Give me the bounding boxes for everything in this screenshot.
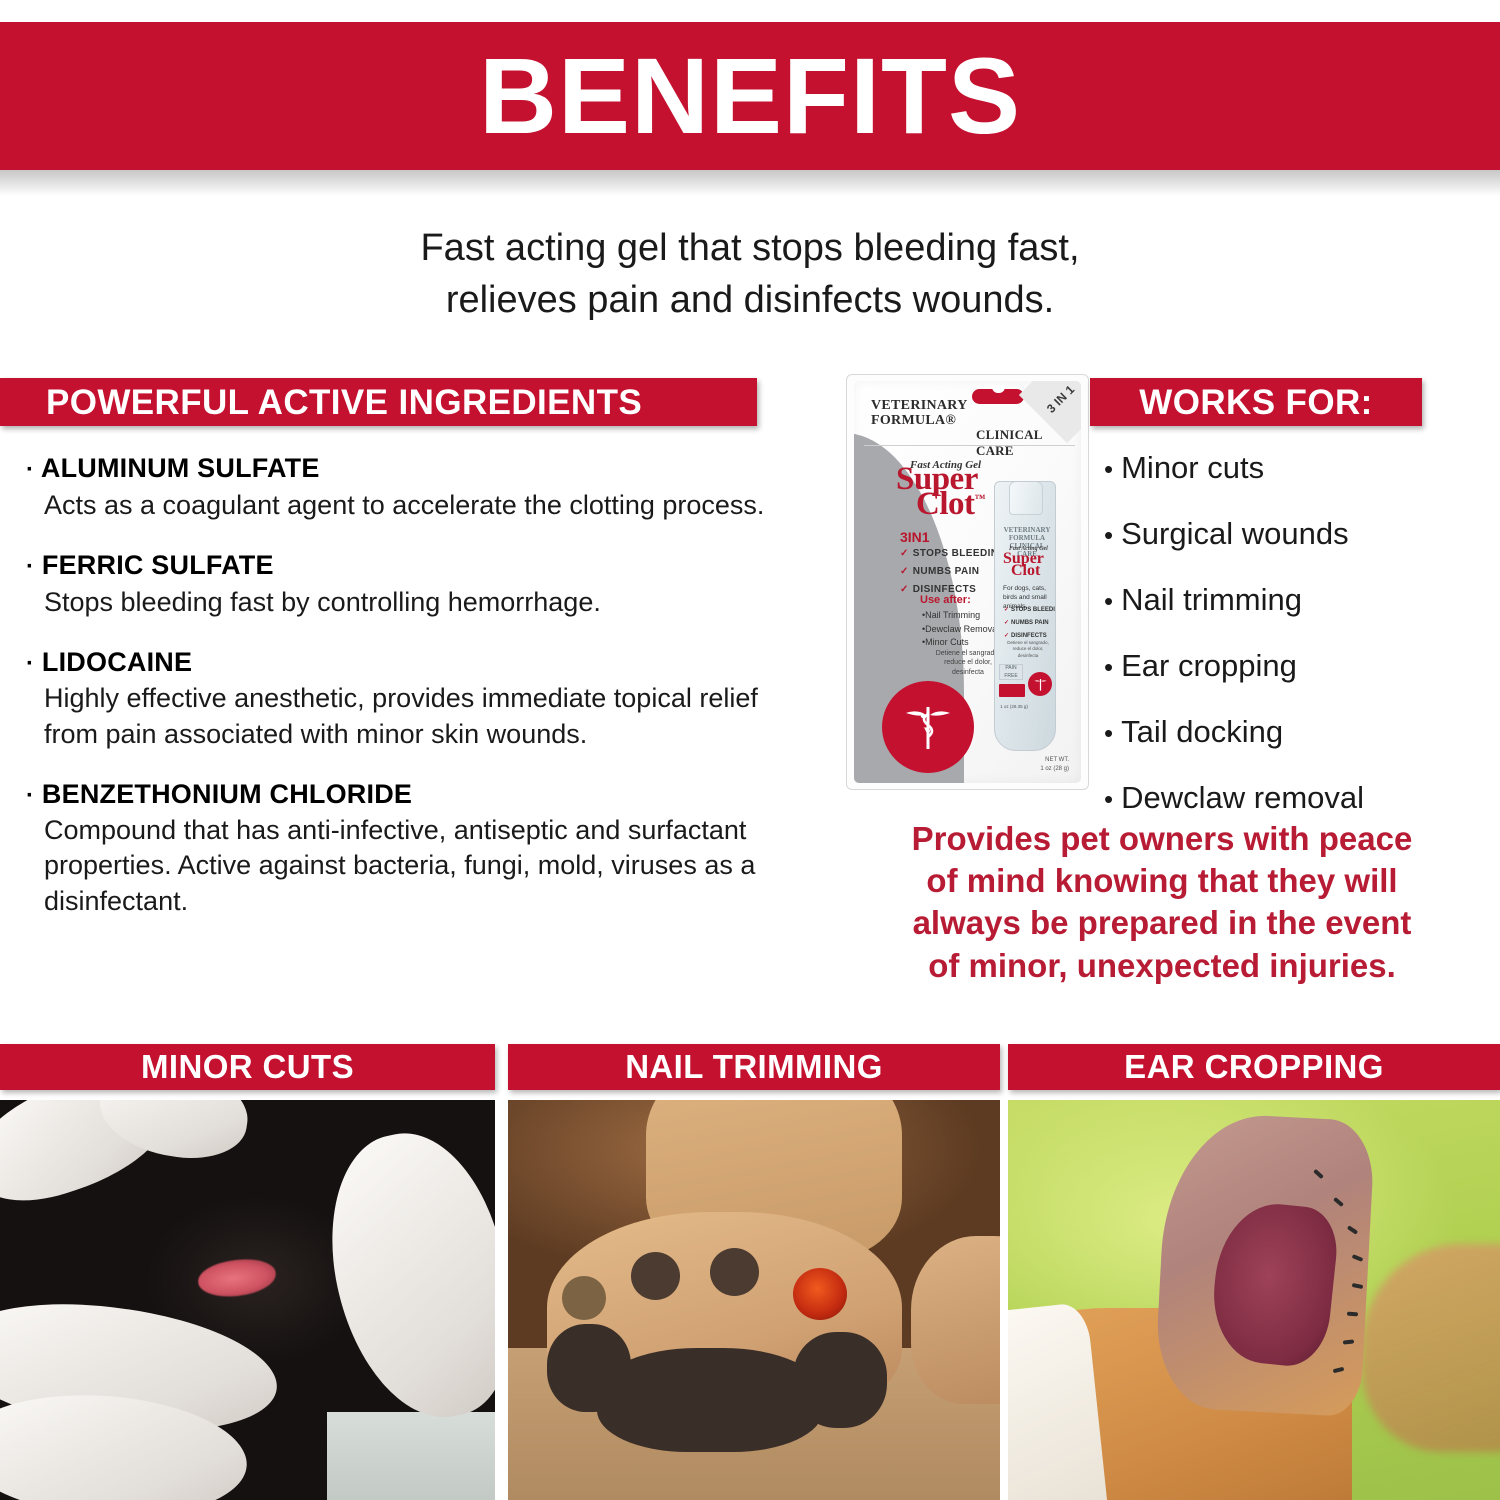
veterinary-caduceus-logo: V <box>882 681 974 773</box>
ingredient-description: Compound that has anti-infective, antise… <box>26 813 766 918</box>
ingredient-name-text: LIDOCAINE <box>42 647 192 677</box>
panel-photo-ear-cropping <box>1008 1100 1500 1500</box>
check-icon: ✓ <box>900 548 909 559</box>
list-bullet-icon: • <box>1104 520 1113 550</box>
dog-nail <box>710 1248 759 1296</box>
page-title: BENEFITS <box>479 42 1021 150</box>
package-brand: VETERINARY FORMULA® <box>871 398 968 428</box>
works-for-item-label: Ear cropping <box>1121 648 1297 683</box>
panel-photo-nail-trimming <box>508 1100 1000 1500</box>
tube-claim: ✓DISINFECTS <box>1004 632 1056 639</box>
package-sub-brand: CLINICAL CARE <box>976 427 1081 459</box>
works-for-item: •Tail docking <box>1104 716 1494 747</box>
list-bullet-icon: · <box>26 650 34 677</box>
package-product-name-line-2: Clot™ <box>916 490 985 518</box>
dog-nail <box>562 1276 606 1320</box>
list-bullet-icon: · <box>26 782 34 809</box>
benefits-infographic: BENEFITS Fast acting gel that stops blee… <box>0 0 1500 1500</box>
promo-line-3: always be prepared in the event <box>832 902 1492 944</box>
package-count-badge: 3IN1 <box>900 529 930 545</box>
package-use-after-label: Use after: <box>920 594 971 606</box>
works-for-list: •Minor cuts •Surgical wounds •Nail trimm… <box>1104 452 1494 848</box>
works-for-item-label: Minor cuts <box>1121 450 1264 485</box>
ingredient-name-text: ALUMINUM SULFATE <box>41 453 320 483</box>
tube-pain-free-badge: PAIN FREE <box>999 664 1023 680</box>
tube-net-weight: 1 oz (28.35 g) <box>999 704 1029 710</box>
ingredients-list: · ALUMINUM SULFATE Acts as a coagulant a… <box>26 452 766 945</box>
ingredient-item: · LIDOCAINE Highly effective anesthetic,… <box>26 646 766 752</box>
ingredient-item: · ALUMINUM SULFATE Acts as a coagulant a… <box>26 452 766 523</box>
works-for-heading: WORKS FOR: <box>1139 385 1372 420</box>
svg-text:V: V <box>924 724 933 738</box>
promo-statement: Provides pet owners with peace of mind k… <box>832 818 1492 987</box>
use-case-panel-minor-cuts: MINOR CUTS <box>0 1044 495 1500</box>
promo-line-1: Provides pet owners with peace <box>832 818 1492 860</box>
promo-line-2: of mind knowing that they will <box>832 860 1492 902</box>
works-for-item-label: Nail trimming <box>1121 582 1302 617</box>
tube-brand-line-2: FORMULA <box>1001 534 1053 542</box>
ingredients-heading: POWERFUL ACTIVE INGREDIENTS <box>46 385 642 420</box>
list-bullet-icon: • <box>1104 454 1113 484</box>
check-icon: ✓ <box>1004 620 1009 626</box>
tagline-line-2: relieves pain and disinfects wounds. <box>0 274 1500 326</box>
paw-pad <box>793 1332 886 1428</box>
photo-dog-paw-bleeding-nail <box>508 1100 1000 1500</box>
list-bullet-icon: • <box>1104 718 1113 748</box>
list-bullet-icon: · <box>26 456 34 483</box>
ingredients-header-bar: POWERFUL ACTIVE INGREDIENTS <box>0 378 757 426</box>
tagline-line-1: Fast acting gel that stops bleeding fast… <box>0 222 1500 274</box>
package-divider <box>864 445 1075 446</box>
tube-brand-line-1: VETERINARY <box>1001 526 1053 534</box>
use-case-panel-nail-trimming: NAIL TRIMMING <box>508 1044 1000 1500</box>
package-use-item: •Nail Trimming <box>922 609 999 623</box>
ingredient-description: Highly effective anesthetic, provides im… <box>26 681 766 751</box>
tube-name-line-2: Clot <box>1011 564 1040 578</box>
panel-caption-bar: MINOR CUTS <box>0 1044 495 1090</box>
ingredient-name: · ALUMINUM SULFATE <box>26 452 766 486</box>
list-bullet-icon: • <box>1104 652 1113 682</box>
ingredient-item: · BENZETHONIUM CHLORIDE Compound that ha… <box>26 778 766 919</box>
net-weight-value: 1 oz (28 g) <box>1040 765 1069 773</box>
package-claim: ✓NUMBS PAIN <box>900 566 1007 577</box>
works-for-item-label: Dewclaw removal <box>1121 780 1364 815</box>
exam-table-region <box>327 1412 495 1500</box>
promo-line-4: of minor, unexpected injuries. <box>832 945 1492 987</box>
product-tube: VETERINARY FORMULA CLINICAL CARE Fast Ac… <box>994 481 1056 751</box>
package-use-after-list: •Nail Trimming •Dewclaw Removal •Minor C… <box>922 609 999 650</box>
suture-stitch <box>1347 1312 1358 1317</box>
use-case-panels: MINOR CUTS NAIL TRIMMING <box>0 1044 1500 1500</box>
tube-caduceus-logo <box>1028 672 1052 696</box>
ingredient-name-text: FERRIC SULFATE <box>42 550 274 580</box>
use-case-panel-ear-cropping: EAR CROPPING <box>1008 1044 1500 1500</box>
works-for-item-label: Tail docking <box>1121 714 1283 749</box>
dog-nail <box>631 1252 680 1300</box>
paw-pad-main <box>597 1348 823 1452</box>
panel-caption: NAIL TRIMMING <box>625 1048 883 1086</box>
works-for-item: •Ear cropping <box>1104 650 1494 681</box>
tube-claim: ✓NUMBS PAIN <box>1004 619 1056 626</box>
photo-dog-cropped-ear <box>1008 1100 1500 1500</box>
works-for-item: •Nail trimming <box>1104 584 1494 615</box>
tube-cap <box>1009 481 1043 515</box>
tube-spanish-text: Detiene el sangrado, reduce el dolor, de… <box>1007 640 1049 659</box>
ingredient-description: Stops bleeding fast by controlling hemor… <box>26 585 766 620</box>
list-bullet-icon: • <box>1104 784 1113 814</box>
check-icon: ✓ <box>1004 607 1009 613</box>
ingredient-name: · LIDOCAINE <box>26 646 766 680</box>
package-brand-line-2: FORMULA® <box>871 413 968 428</box>
list-bullet-icon: · <box>26 553 34 580</box>
panel-photo-minor-cuts <box>0 1100 495 1500</box>
works-for-item: •Dewclaw removal <box>1104 782 1494 813</box>
product-package-image: 3 IN 1 VETERINARY FORMULA® CLINICAL CARE… <box>846 374 1089 790</box>
works-for-header-bar: WORKS FOR: <box>1090 378 1422 426</box>
tube-red-accent <box>999 684 1025 697</box>
panel-caption-bar: NAIL TRIMMING <box>508 1044 1000 1090</box>
check-icon: ✓ <box>1004 633 1009 639</box>
package-claim: ✓STOPS BLEEDING <box>900 548 1007 559</box>
panel-caption: MINOR CUTS <box>141 1048 354 1086</box>
photo-gloved-hands-dog-wound <box>0 1100 495 1500</box>
package-use-item: •Minor Cuts <box>922 636 999 650</box>
check-icon: ✓ <box>900 566 909 577</box>
works-for-item: •Minor cuts <box>1104 452 1494 483</box>
ingredient-item: · FERRIC SULFATE Stops bleeding fast by … <box>26 549 766 620</box>
panel-caption-bar: EAR CROPPING <box>1008 1044 1500 1090</box>
tube-claim: ✓STOPS BLEEDING <box>1004 606 1056 613</box>
package-use-item: •Dewclaw Removal <box>922 623 999 637</box>
package-brand-line-1: VETERINARY <box>871 398 968 413</box>
net-weight-label: NET WT. <box>1040 756 1069 764</box>
list-bullet-icon: • <box>1104 586 1113 616</box>
check-icon: ✓ <box>900 584 909 595</box>
ingredient-name: · BENZETHONIUM CHLORIDE <box>26 778 766 812</box>
ingredient-description: Acts as a coagulant agent to accelerate … <box>26 488 766 523</box>
tagline: Fast acting gel that stops bleeding fast… <box>0 222 1500 327</box>
package-net-weight: NET WT. 1 oz (28 g) <box>1040 756 1069 773</box>
banner-shadow <box>0 170 1500 196</box>
ingredient-name-text: BENZETHONIUM CHLORIDE <box>42 779 412 809</box>
benefits-banner: BENEFITS <box>0 22 1500 170</box>
package-blister-card: 3 IN 1 VETERINARY FORMULA® CLINICAL CARE… <box>854 381 1081 783</box>
ingredient-name: · FERRIC SULFATE <box>26 549 766 583</box>
works-for-item-label: Surgical wounds <box>1121 516 1348 551</box>
works-for-item: •Surgical wounds <box>1104 518 1494 549</box>
panel-caption: EAR CROPPING <box>1124 1048 1384 1086</box>
trademark-symbol: ™ <box>975 493 986 505</box>
